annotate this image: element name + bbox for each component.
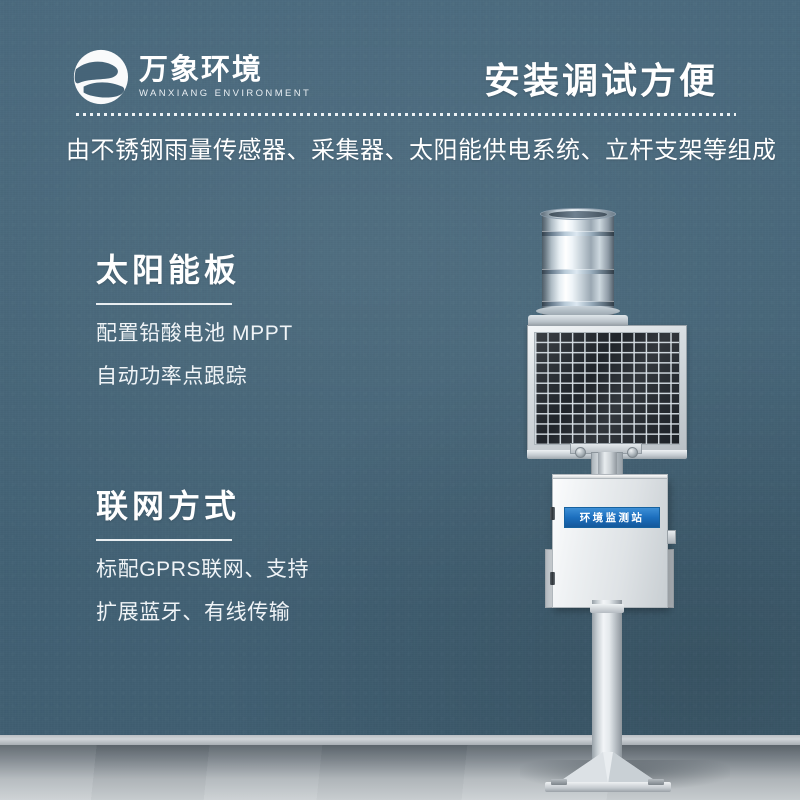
brand-name-cn: 万象环境 (139, 55, 311, 85)
product-poster: 万象环境 WANXIANG ENVIRONMENT 安装调试方便 由不锈钢雨量传… (0, 0, 800, 800)
feature-line: 配置铅酸电池 MPPT (96, 323, 426, 344)
baseboard-strip (0, 735, 800, 745)
brand-logo: 万象环境 WANXIANG ENVIRONMENT (72, 48, 311, 106)
brand-logo-text: 万象环境 WANXIANG ENVIRONMENT (139, 55, 311, 99)
base-gusset-icon (556, 752, 660, 784)
solar-cell-grid (534, 332, 680, 445)
feature-block-solar-panel: 太阳能板 配置铅酸电池 MPPT 自动功率点跟踪 (96, 252, 426, 387)
feature-line: 扩展蓝牙、有线传输 (96, 602, 426, 623)
floor-surface (0, 745, 800, 800)
enclosure-nameplate: 环境监测站 (564, 507, 660, 528)
page-headline: 安装调试方便 (484, 52, 718, 104)
feature-divider (96, 303, 232, 305)
feature-line: 标配GPRS联网、支持 (96, 559, 426, 580)
pole-collar (590, 604, 624, 613)
enclosure-latch-icon (667, 530, 676, 544)
brand-name-en: WANXIANG ENVIRONMENT (139, 88, 311, 99)
feature-line: 自动功率点跟踪 (96, 366, 426, 387)
mount-bolt-right-icon (627, 447, 638, 458)
controller-enclosure-icon (552, 478, 668, 608)
base-gusset-group (556, 752, 660, 784)
feature-title: 太阳能板 (96, 252, 426, 289)
solar-panel-icon (527, 325, 687, 452)
anchor-bolt-right-icon (648, 779, 664, 785)
enclosure-hinge-bottom-icon (550, 572, 555, 585)
feature-divider (96, 539, 232, 541)
gauge-funnel-opening (549, 211, 607, 218)
enclosure-hinge-top-icon (550, 507, 555, 520)
gauge-band (542, 231, 614, 236)
header-dotted-divider (76, 113, 736, 116)
gauge-band (542, 269, 614, 274)
feature-block-network: 联网方式 标配GPRS联网、支持 扩展蓝牙、有线传输 (96, 488, 426, 623)
page-subheadline: 由不锈钢雨量传感器、采集器、太阳能供电系统、立杆支架等组成 (66, 130, 766, 165)
anchor-bolt-left-icon (551, 779, 567, 785)
mount-bolt-left-icon (575, 447, 586, 458)
feature-title: 联网方式 (96, 488, 426, 525)
swoosh-globe-logo-icon (72, 48, 130, 106)
mounting-pole-icon (592, 600, 622, 760)
